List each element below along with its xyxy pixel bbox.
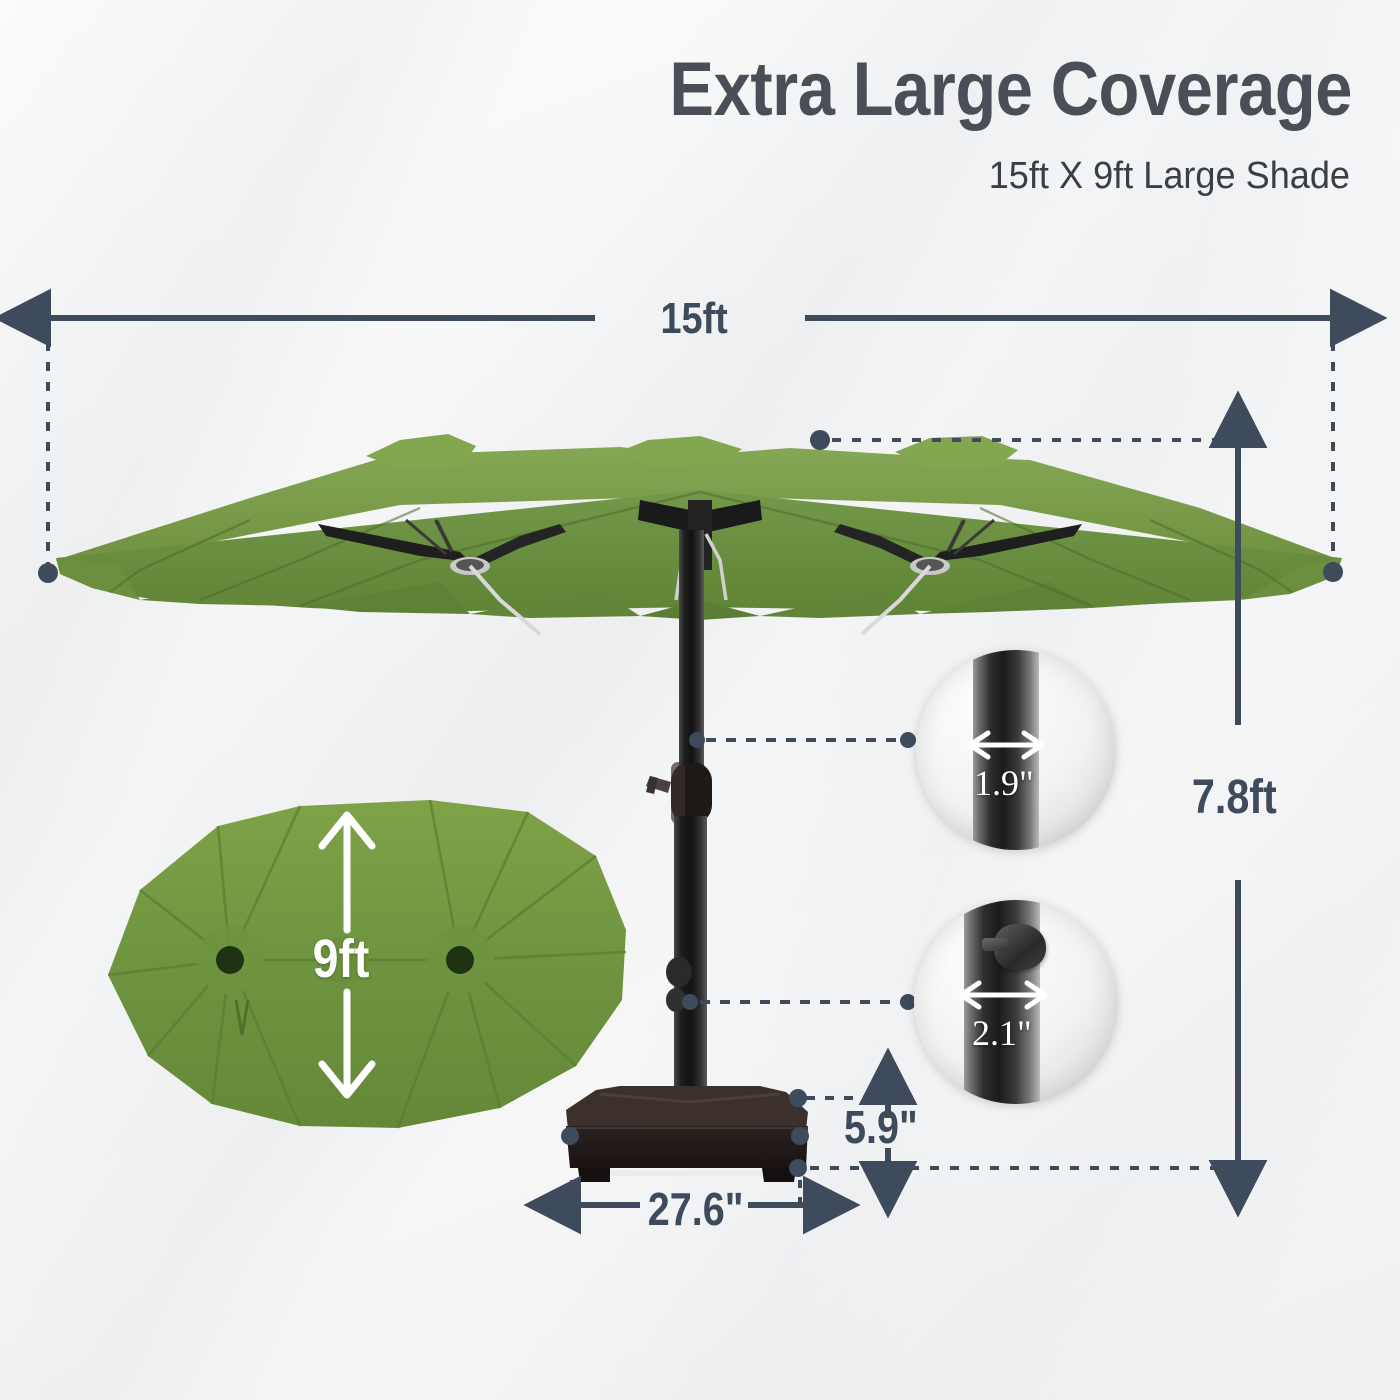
callout-2-arrow-layer [0, 0, 1400, 1400]
product-dimension-diagram: Extra Large Coverage 15ft X 9ft Large Sh… [0, 0, 1400, 1400]
label-lower-pole-diameter: 2.1" [972, 1012, 1032, 1054]
